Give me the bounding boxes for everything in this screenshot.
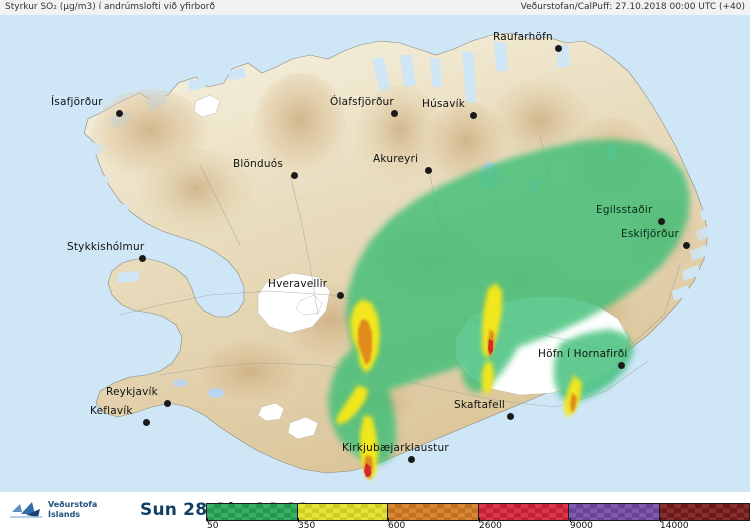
logo-line-2: Íslands bbox=[48, 510, 97, 520]
legend-tick-2600: 2600 bbox=[479, 521, 502, 531]
logo-line-1: Veðurstofa bbox=[48, 500, 97, 510]
vedurstofa-logo: Veðurstofa Íslands bbox=[8, 498, 136, 524]
legend-tick-350: 350 bbox=[298, 521, 315, 531]
legend-segment-50 bbox=[207, 504, 297, 520]
legend-tick-labels: 503506002600900014000 bbox=[206, 521, 750, 532]
legend-tick-mark bbox=[298, 518, 299, 522]
eruption-source-marker bbox=[365, 470, 371, 476]
legend-segment-14000 bbox=[659, 504, 750, 520]
map-canvas[interactable]: ÍsafjörðurBlönduósStykkishólmurÓlafsfjör… bbox=[0, 15, 750, 492]
page-title: Styrkur SO₂ (µg/m3) í andrúmslofti við y… bbox=[5, 0, 215, 15]
header-bar: Styrkur SO₂ (µg/m3) í andrúmslofti við y… bbox=[0, 0, 750, 16]
legend-segment-2600 bbox=[478, 504, 569, 520]
legend-tick-mark bbox=[479, 518, 480, 522]
legend-segment-350 bbox=[297, 504, 388, 520]
legend-tick-mark bbox=[570, 518, 571, 522]
map-graphic bbox=[0, 15, 750, 492]
legend-colorbar bbox=[206, 503, 750, 521]
legend-tick-mark bbox=[660, 518, 661, 522]
legend-segment-600 bbox=[387, 504, 478, 520]
legend-segment-9000 bbox=[568, 504, 659, 520]
legend-tick-50: 50 bbox=[207, 521, 218, 531]
model-timestamp: Veðurstofan/CalPuff: 27.10.2018 00:00 UT… bbox=[521, 0, 745, 15]
so2-forecast-map-window: Styrkur SO₂ (µg/m3) í andrúmslofti við y… bbox=[0, 0, 750, 532]
legend-tick-14000: 14000 bbox=[660, 521, 689, 531]
legend-tick-mark bbox=[207, 518, 208, 522]
logo-mark-icon bbox=[8, 498, 46, 522]
legend-tick-mark bbox=[388, 518, 389, 522]
legend-tick-600: 600 bbox=[388, 521, 405, 531]
legend-tick-9000: 9000 bbox=[570, 521, 593, 531]
